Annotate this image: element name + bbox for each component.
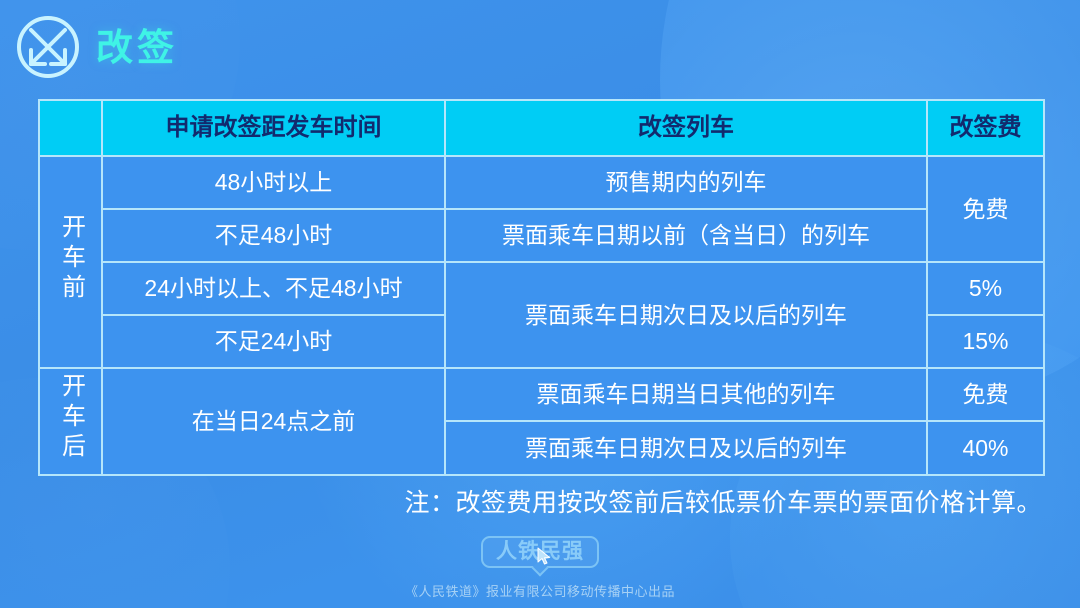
cell-time-4: 不足24小时 <box>102 315 445 368</box>
rebooking-fee-table: 申请改签距发车时间 改签列车 改签费 开车前 48小时以上 预售期内的列车 免费… <box>38 99 1045 476</box>
cell-train-3: 票面乘车日期次日及以后的列车 <box>445 262 927 368</box>
cell-train-1: 预售期内的列车 <box>445 156 927 209</box>
footer-branding: 人铁民强 《人民铁道》报业有限公司移动传播中心出品 <box>0 536 1080 600</box>
cell-time-1: 48小时以上 <box>102 156 445 209</box>
cell-fee-1: 免费 <box>927 156 1044 262</box>
table-header-train: 改签列车 <box>445 100 927 156</box>
section-label-before-departure: 开车前 <box>39 156 102 368</box>
cell-time-2: 不足48小时 <box>102 209 445 262</box>
exchange-circle-icon <box>14 13 82 81</box>
table-header-blank <box>39 100 102 156</box>
table-row: 不足48小时 票面乘车日期以前（含当日）的列车 <box>39 209 1044 262</box>
cell-fee-4: 15% <box>927 315 1044 368</box>
cell-train-2: 票面乘车日期以前（含当日）的列车 <box>445 209 927 262</box>
page-header: 改签 <box>14 13 178 81</box>
section-label-after-departure: 开车后 <box>39 368 102 475</box>
table-header-time: 申请改签距发车时间 <box>102 100 445 156</box>
table-header-row: 申请改签距发车时间 改签列车 改签费 <box>39 100 1044 156</box>
section-label-text: 开车后 <box>59 373 83 463</box>
cell-time-5: 在当日24点之前 <box>102 368 445 475</box>
page-title: 改签 <box>96 29 178 66</box>
credit-line: 《人民铁道》报业有限公司移动传播中心出品 <box>405 581 675 600</box>
cursor-arrow-icon <box>537 547 551 565</box>
page-root: 改签 申请改签距发车时间 改签列车 改签费 开车前 48小时以上 预售期内 <box>0 0 1080 608</box>
table-row: 24小时以上、不足48小时 票面乘车日期次日及以后的列车 5% <box>39 262 1044 315</box>
table-row: 开车后 在当日24点之前 票面乘车日期当日其他的列车 免费 <box>39 368 1044 421</box>
cell-fee-5: 免费 <box>927 368 1044 421</box>
cell-train-5: 票面乘车日期当日其他的列车 <box>445 368 927 421</box>
fee-table-wrapper: 申请改签距发车时间 改签列车 改签费 开车前 48小时以上 预售期内的列车 免费… <box>38 99 1043 476</box>
cell-fee-3: 5% <box>927 262 1044 315</box>
logo-badge: 人铁民强 <box>481 536 599 568</box>
footnote-text: 注：改签费用按改签前后较低票价车票的票面价格计算。 <box>404 483 1042 519</box>
cell-time-3: 24小时以上、不足48小时 <box>102 262 445 315</box>
section-label-text: 开车前 <box>59 214 83 304</box>
table-row: 开车前 48小时以上 预售期内的列车 免费 <box>39 156 1044 209</box>
table-header-fee: 改签费 <box>927 100 1044 156</box>
cell-fee-6: 40% <box>927 421 1044 474</box>
cell-train-6: 票面乘车日期次日及以后的列车 <box>445 421 927 474</box>
